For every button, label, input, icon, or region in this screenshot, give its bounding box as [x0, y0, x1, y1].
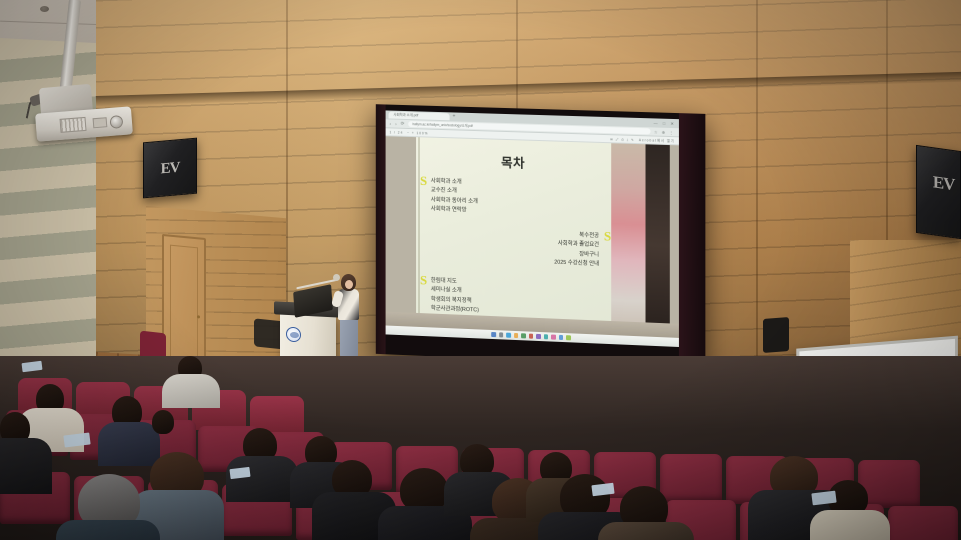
taskbar-icon[interactable] [491, 332, 495, 337]
side-door[interactable] [162, 234, 206, 374]
slide-title: 목차 [416, 149, 611, 174]
browser-window: 사회학과 소개.pdf + — □ ✕ ‹ › ⟳ hallym.ac.kr/h… [386, 110, 679, 347]
seat[interactable] [888, 506, 958, 540]
toc-group-1: S 사회학과 소개 교수진 소개 사회학과 동아리 소개 사회학과 연락망 [431, 177, 478, 216]
pdf-tools-icons[interactable]: ⊞ ⤢ ⎙ ⤓ ✎ [610, 137, 635, 142]
door-knob-icon[interactable] [197, 315, 200, 318]
taskbar-icon[interactable] [551, 335, 556, 340]
stage-chair [763, 317, 789, 353]
presenter-legs [340, 318, 358, 358]
seat[interactable] [660, 454, 722, 502]
taskbar-icon[interactable] [521, 333, 525, 338]
reload-icon[interactable]: ⟳ [401, 121, 406, 127]
forward-button[interactable]: › [395, 121, 398, 126]
browser-toolbar-icons[interactable]: ☆ ⊕ ⋮ [654, 129, 675, 135]
toc-marker-s: S [420, 273, 427, 286]
projection-screen: 사회학과 소개.pdf + — □ ✕ ‹ › ⟳ hallym.ac.kr/h… [376, 104, 706, 368]
toc-group-3: S 한림대 지도 세미나실 소개 학생회의 복지정책 학군사관과정(ROTC) [431, 277, 479, 316]
taskbar-icon[interactable] [559, 335, 564, 340]
taskbar-icon[interactable] [529, 334, 533, 339]
audience-member [810, 510, 890, 540]
toc-marker-s: S [420, 174, 427, 187]
handout-paper[interactable] [22, 361, 43, 372]
taskbar-icon[interactable] [499, 333, 503, 338]
wall-speaker-left: EV [143, 138, 197, 199]
presentation-slide: 목차 S 사회학과 소개 교수진 소개 사회학과 동아리 소개 사회학과 연락망… [416, 137, 611, 344]
ev-logo-icon: EV [161, 160, 180, 179]
audience-seating-area [0, 356, 961, 540]
university-emblem-icon [286, 326, 301, 342]
audience-member [226, 456, 298, 502]
audience-member [0, 438, 52, 494]
projector-vent [60, 117, 87, 133]
toc-group-2: S 복수전공 사회학과 졸업요건 장바구니 2025 수강신청 안내 [554, 231, 599, 270]
lecture-hall-photo: EV EV 사회학과 소개.pdf + — □ ✕ ‹ › ⟳ hallym.a… [0, 0, 961, 540]
toc-item: 2025 수강신청 안내 [554, 259, 599, 270]
ev-logo-icon: EV [933, 173, 955, 196]
screen-border-right [679, 113, 705, 368]
toc-marker-s: S [604, 229, 611, 242]
audience-member [98, 422, 160, 466]
audience-member [56, 520, 160, 540]
taskbar-icon[interactable] [566, 335, 571, 340]
taskbar-icon[interactable] [544, 334, 548, 339]
taskbar-icon[interactable] [514, 333, 518, 338]
screen-border-left [376, 104, 386, 354]
audience-member [152, 410, 174, 434]
page-indicator[interactable]: 1 / 24 [390, 130, 404, 134]
open-in-acrobat-button[interactable]: Acrobat에서 열기 [639, 137, 675, 143]
microphone-icon [333, 274, 340, 281]
window-controls[interactable]: — □ ✕ [654, 120, 676, 126]
slide-side-photo [611, 143, 645, 345]
projector-badge [93, 117, 108, 128]
pdf-slide-stage: 목차 S 사회학과 소개 교수진 소개 사회학과 동아리 소개 사회학과 연락망… [386, 136, 679, 347]
wall-speaker-right: EV [916, 145, 961, 239]
new-tab-button[interactable]: + [453, 113, 456, 120]
door-panel [170, 245, 198, 362]
presenter-face [345, 280, 353, 289]
projector-lens-icon [109, 115, 123, 129]
toc-item: 사회학과 연락망 [431, 205, 478, 216]
audience-member [598, 522, 694, 540]
slide-side-photo-dark [646, 144, 670, 346]
taskbar-icon[interactable] [536, 334, 540, 339]
ceiling-light [40, 6, 49, 12]
audience-member [162, 374, 220, 408]
zoom-controls[interactable]: − + 100% [407, 130, 428, 135]
taskbar-icon[interactable] [506, 333, 510, 338]
toc-item: 사회학과 졸업요건 [554, 240, 599, 251]
screen-surface: 사회학과 소개.pdf + — □ ✕ ‹ › ⟳ hallym.ac.kr/h… [386, 110, 679, 347]
back-button[interactable]: ‹ [390, 121, 393, 126]
